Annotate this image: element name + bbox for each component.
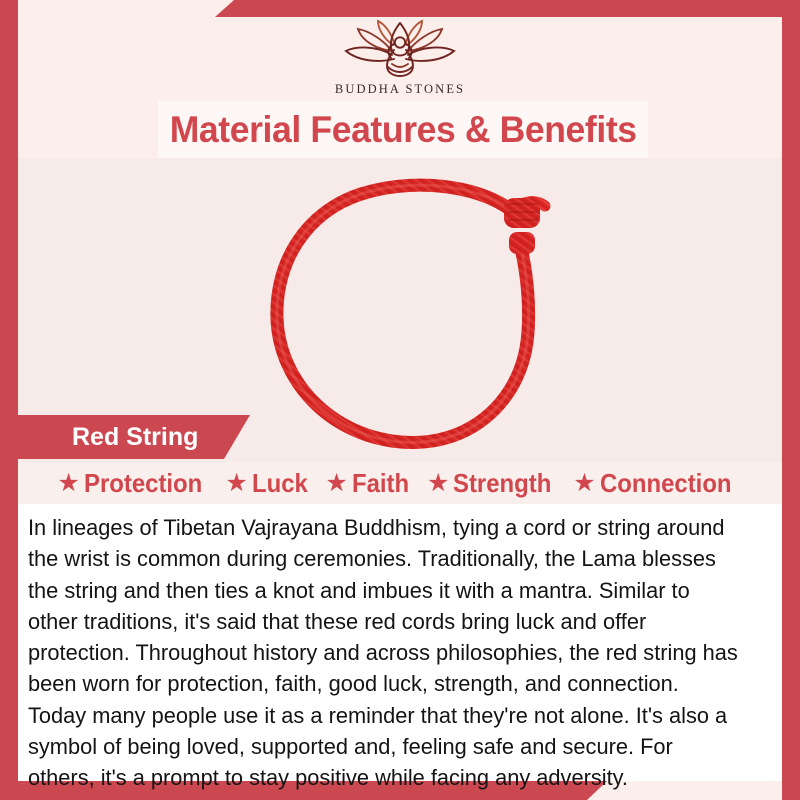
benefit-item-connection: ★ Connection (573, 468, 742, 499)
benefit-item-faith: ★ Faith (325, 468, 414, 499)
poster-root: BUDDHA STONES Material Features & Benefi… (0, 0, 800, 800)
description-area: In lineages of Tibetan Vajrayana Buddhis… (18, 504, 782, 781)
title-band: Material Features & Benefits (158, 101, 648, 158)
benefit-label: Luck (252, 468, 308, 499)
benefit-label: Protection (84, 468, 202, 499)
benefits-row: ★ Protection ★ Luck ★ Faith ★ Strength ★… (18, 462, 782, 504)
brand-logo: BUDDHA STONES (0, 17, 800, 102)
benefit-label: Connection (600, 468, 732, 499)
benefit-item-protection: ★ Protection (57, 468, 212, 499)
top-accent-bar (215, 0, 800, 17)
left-accent-bar (0, 0, 18, 800)
star-icon: ★ (57, 471, 79, 496)
page-title: Material Features & Benefits (170, 109, 637, 151)
star-icon: ★ (325, 471, 347, 496)
description-paragraph: In lineages of Tibetan Vajrayana Buddhis… (28, 512, 742, 794)
benefit-label: Strength (453, 468, 551, 499)
star-icon: ★ (225, 471, 247, 496)
benefit-label: Faith (352, 468, 409, 499)
benefit-item-luck: ★ Luck (225, 468, 312, 499)
product-name-label: Red String (72, 423, 198, 452)
star-icon: ★ (427, 471, 449, 496)
red-string-bracelet-image (261, 170, 571, 460)
lotus-meditation-icon (334, 19, 466, 81)
benefit-item-strength: ★ Strength (427, 468, 560, 499)
star-icon: ★ (573, 471, 595, 496)
brand-name: BUDDHA STONES (335, 82, 465, 97)
product-name-ribbon: Red String (18, 415, 250, 459)
right-accent-bar (782, 0, 800, 800)
